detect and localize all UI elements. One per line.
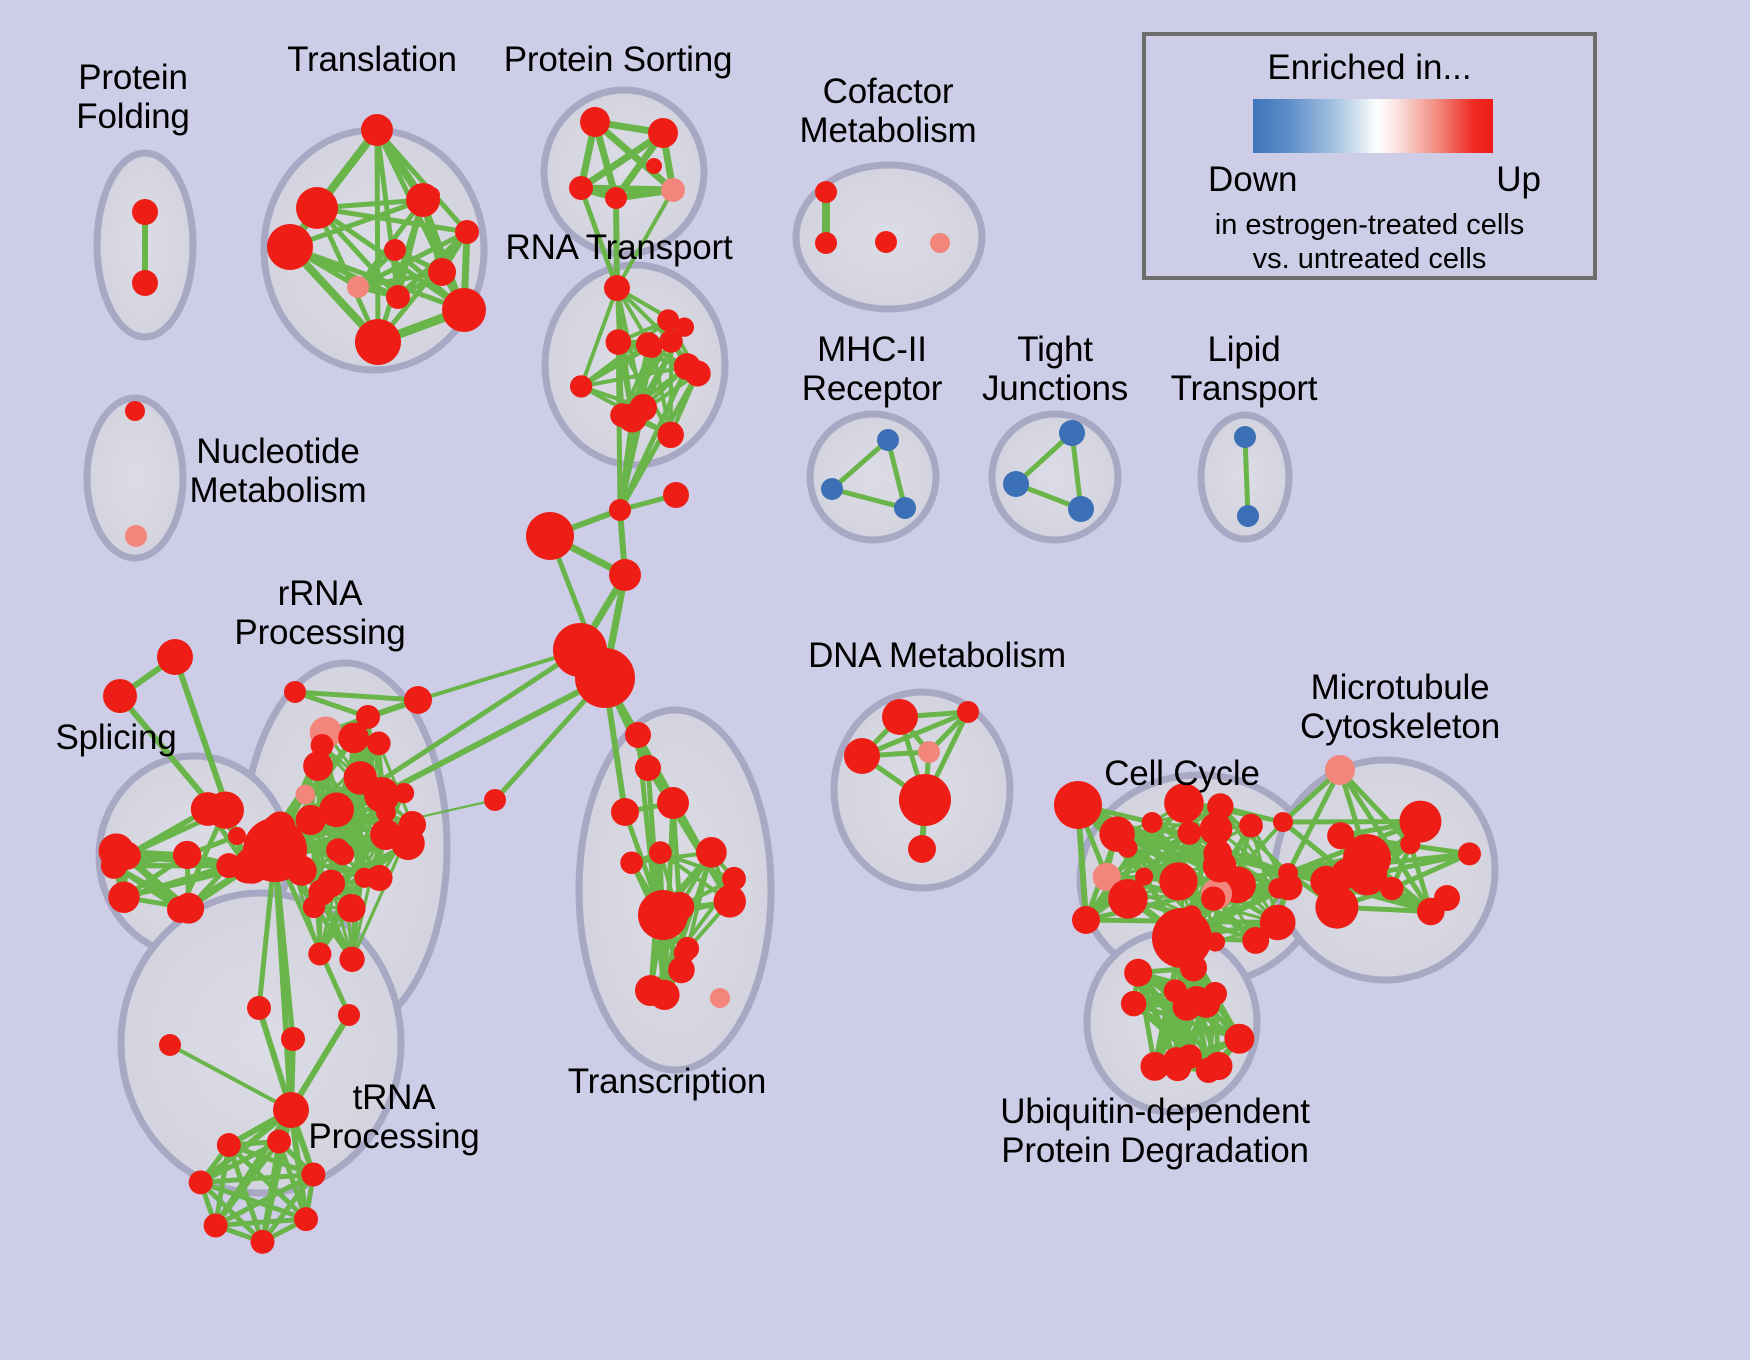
network-node: [899, 774, 951, 826]
network-node: [370, 819, 401, 850]
network-node: [281, 1027, 305, 1051]
legend-title: Enriched in...: [1146, 48, 1593, 88]
network-node: [609, 499, 631, 521]
network-node: [569, 176, 593, 200]
network-node: [125, 401, 145, 421]
network-node: [204, 1213, 228, 1237]
network-node: [674, 353, 701, 380]
network-node: [384, 239, 406, 261]
network-edge: [377, 130, 378, 342]
network-node: [877, 429, 899, 451]
network-node: [575, 648, 635, 708]
network-node: [1237, 505, 1259, 527]
network-node: [228, 827, 246, 845]
network-node: [1224, 1024, 1254, 1054]
network-node: [668, 957, 695, 984]
network-node: [339, 947, 364, 972]
network-node: [243, 818, 307, 882]
network-node: [1207, 793, 1233, 819]
network-figure: Protein FoldingTranslationProtein Sortin…: [0, 0, 1750, 1360]
network-node: [424, 187, 440, 203]
network-node: [844, 738, 880, 774]
network-node: [399, 811, 426, 838]
network-node: [308, 942, 331, 965]
network-edge: [1245, 437, 1248, 516]
network-node: [1315, 886, 1358, 929]
network-node: [338, 1004, 360, 1026]
network-node: [455, 220, 479, 244]
network-node: [620, 851, 643, 874]
legend-caption: in estrogen-treated cells vs. untreated …: [1146, 208, 1593, 276]
network-node: [649, 841, 672, 864]
network-node: [660, 330, 683, 353]
network-node: [267, 224, 313, 270]
network-node: [311, 734, 334, 757]
network-node: [338, 723, 369, 754]
network-node: [125, 525, 147, 547]
network-node: [354, 868, 374, 888]
network-node: [570, 375, 592, 397]
network-node: [1178, 821, 1202, 845]
network-node: [696, 837, 727, 868]
network-node: [364, 777, 400, 813]
network-node: [1054, 781, 1102, 829]
network-node: [1164, 783, 1204, 823]
network-node: [1003, 471, 1029, 497]
network-node: [821, 478, 843, 500]
network-node: [337, 894, 365, 922]
network-node: [484, 789, 506, 811]
network-node: [1072, 906, 1100, 934]
network-node: [1458, 842, 1481, 865]
network-node: [1234, 426, 1256, 448]
network-node: [301, 1163, 325, 1187]
network-node: [267, 1130, 291, 1154]
legend-box: Enriched in... Down Up in estrogen-treat…: [1142, 32, 1597, 280]
network-node: [103, 679, 137, 713]
network-node: [167, 896, 194, 923]
network-node: [815, 232, 837, 254]
network-node: [1180, 954, 1207, 981]
network-node: [132, 270, 158, 296]
network-node: [580, 107, 610, 137]
network-node: [714, 885, 746, 917]
network-node: [930, 233, 950, 253]
network-node: [1059, 420, 1085, 446]
network-node: [247, 996, 271, 1020]
network-node: [1159, 862, 1197, 900]
network-node: [875, 231, 897, 253]
network-node: [710, 988, 730, 1008]
network-node: [1380, 877, 1403, 900]
network-node: [625, 722, 651, 748]
network-node: [1343, 834, 1391, 882]
network-node: [284, 681, 306, 703]
legend-high-label: Up: [1496, 160, 1541, 200]
network-node: [207, 791, 244, 828]
network-node: [367, 731, 391, 755]
network-node: [295, 785, 315, 805]
network-node: [132, 199, 158, 225]
network-node: [355, 319, 401, 365]
network-node: [646, 158, 662, 174]
network-node: [1068, 496, 1094, 522]
network-node: [189, 1170, 213, 1194]
network-node: [957, 701, 979, 723]
network-node: [347, 276, 369, 298]
network-node: [1121, 991, 1147, 1017]
network-node: [273, 1092, 309, 1128]
network-node: [604, 275, 630, 301]
network-node: [428, 258, 456, 286]
network-node: [1118, 838, 1138, 858]
network-node: [108, 882, 139, 913]
network-node: [1203, 849, 1237, 883]
network-node: [1124, 959, 1152, 987]
network-node: [442, 288, 486, 332]
network-node: [159, 1034, 181, 1056]
network-node: [908, 835, 936, 863]
network-node: [722, 867, 746, 891]
network-node: [1278, 863, 1298, 883]
network-node: [638, 890, 688, 940]
network-node: [1164, 979, 1187, 1002]
network-node: [361, 114, 393, 146]
network-node: [1400, 834, 1420, 854]
network-node: [918, 741, 940, 763]
network-node: [1273, 812, 1293, 832]
network-node: [1164, 1054, 1191, 1081]
network-node: [657, 422, 683, 448]
network-edge: [616, 198, 617, 288]
network-node: [157, 639, 193, 675]
network-node: [642, 338, 662, 358]
network-node: [1201, 887, 1225, 911]
network-node: [663, 482, 689, 508]
network-node: [1192, 990, 1220, 1018]
network-node: [404, 686, 432, 714]
network-node: [251, 1230, 275, 1254]
cluster-hull: [579, 710, 771, 1070]
network-node: [173, 841, 201, 869]
network-node: [657, 787, 689, 819]
network-node: [610, 403, 634, 427]
network-node: [217, 1133, 241, 1157]
network-node: [609, 559, 641, 591]
network-node: [332, 843, 355, 866]
network-node: [815, 181, 837, 203]
network-node: [526, 512, 574, 560]
network-node: [661, 178, 685, 202]
network-node: [1239, 814, 1263, 838]
network-node: [308, 879, 334, 905]
network-node: [606, 329, 632, 355]
network-node: [882, 699, 918, 735]
network-node: [894, 497, 916, 519]
network-node: [99, 833, 134, 868]
network-node: [294, 1207, 318, 1231]
network-node: [296, 187, 338, 229]
network-node: [386, 285, 410, 309]
network-node: [1242, 927, 1269, 954]
network-node: [1142, 812, 1163, 833]
network-node: [635, 975, 666, 1006]
network-node: [635, 755, 661, 781]
cluster-hull: [810, 414, 936, 540]
network-node: [1108, 879, 1148, 919]
network-node: [605, 187, 627, 209]
network-node: [1434, 885, 1460, 911]
legend-colorbar: [1253, 99, 1493, 153]
cluster-hull: [544, 90, 704, 254]
network-node: [611, 798, 639, 826]
network-node: [648, 118, 678, 148]
network-node: [1325, 755, 1355, 785]
legend-low-label: Down: [1208, 160, 1297, 200]
